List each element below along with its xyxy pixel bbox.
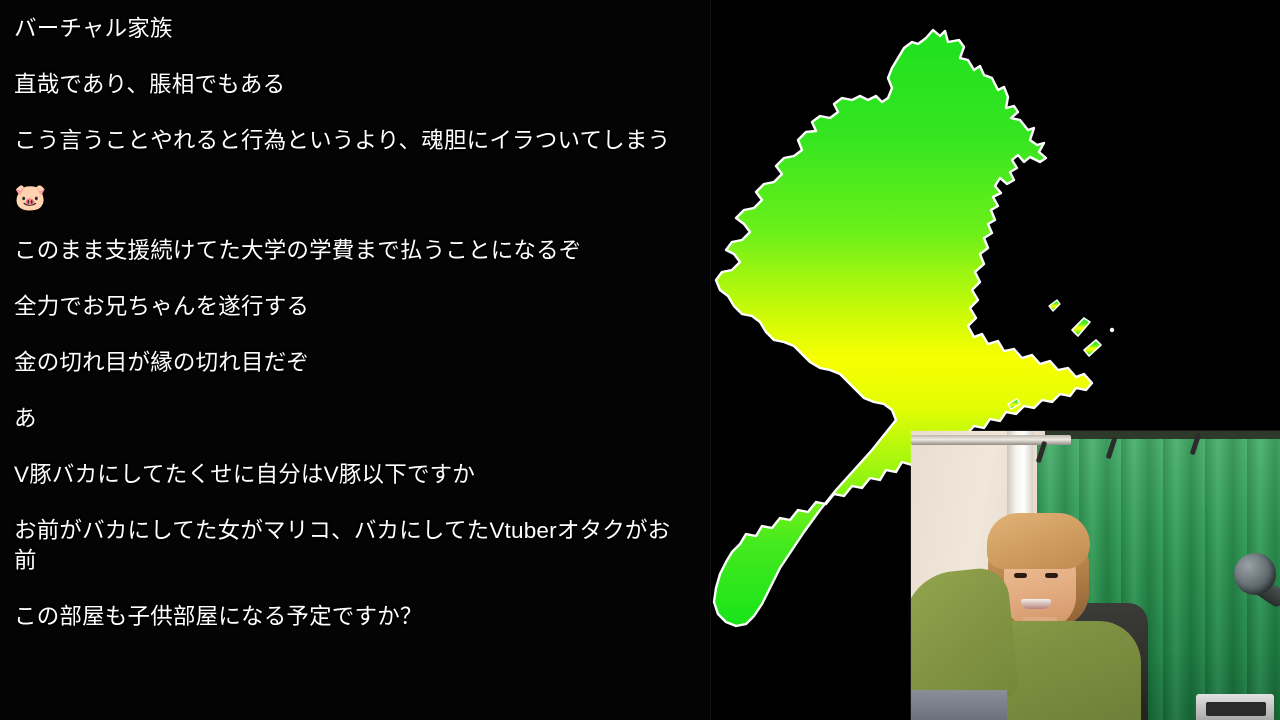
comment-panel: バーチャル家族 直哉であり、脹相でもある こう言うことやれると行為というより、魂… bbox=[0, 0, 711, 720]
mouth bbox=[1021, 599, 1051, 609]
map-island bbox=[1049, 300, 1060, 311]
map-island bbox=[1084, 340, 1101, 356]
comment-line: 金の切れ目が縁の切れ目だぞ bbox=[14, 348, 684, 378]
comment-line: 直哉であり、脹相でもある bbox=[14, 70, 684, 100]
comment-line: あ bbox=[14, 404, 684, 434]
eye-right bbox=[1045, 573, 1058, 578]
lap bbox=[911, 690, 1007, 720]
eye-left bbox=[1014, 573, 1027, 578]
comment-line: この部屋も子供部屋になる予定ですか？ bbox=[14, 602, 684, 632]
microphone-icon bbox=[1234, 553, 1276, 595]
pig-face-emoji: 🐷 bbox=[14, 182, 684, 212]
comment-line: 全力でお兄ちゃんを遂行する bbox=[14, 292, 684, 322]
screen: バーチャル家族 直哉であり、脹相でもある こう言うことやれると行為というより、魂… bbox=[0, 0, 1280, 720]
map-island bbox=[1072, 318, 1090, 336]
webcam-overlay[interactable] bbox=[911, 431, 1280, 720]
comment-line: このまま支援続けてた大学の学費まで払うことになるぞ bbox=[14, 236, 684, 266]
raised-arm bbox=[911, 566, 1019, 707]
comment-line: バーチャル家族 bbox=[14, 14, 684, 44]
map-island bbox=[1110, 328, 1114, 332]
comment-line: お前がバカにしてた女がマリコ、バカにしてたVtuberオタクがお前 bbox=[14, 516, 684, 576]
hair-fringe bbox=[987, 513, 1090, 569]
comment-line: V豚バカにしてたくせに自分はV豚以下ですか bbox=[14, 460, 684, 490]
curtain-rail bbox=[911, 435, 1071, 445]
comment-line: こう言うことやれると行為というより、魂胆にイラついてしまう bbox=[14, 126, 684, 156]
desk-device-screen bbox=[1206, 702, 1266, 716]
